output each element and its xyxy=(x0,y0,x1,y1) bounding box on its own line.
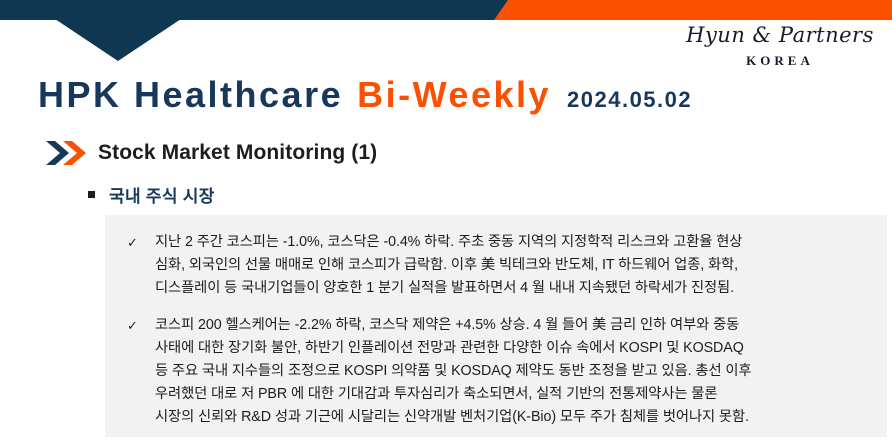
list-item-line: 디스플레이 등 국내기업들이 양호한 1 분기 실적을 발표하면서 4 월 내내… xyxy=(155,277,875,300)
navy-triangle-accent xyxy=(55,19,181,61)
list-item-line: 코스피 200 헬스케어는 -2.2% 하락, 코스닥 제약은 +4.5% 상승… xyxy=(155,314,875,337)
list-item-line: 지난 2 주간 코스피는 -1.0%, 코스닥은 -0.4% 하락. 주초 중동… xyxy=(155,231,875,254)
list-item-line: 시장의 신뢰와 R&D 성과 기근에 시달리는 신약개발 벤처기업(K-Bio)… xyxy=(155,406,875,429)
list-item-line: 사태에 대한 장기화 불안, 하반기 인플레이션 전망과 관련한 다양한 이슈 … xyxy=(155,337,875,360)
list-item: ✓ 코스피 200 헬스케어는 -2.2% 하락, 코스닥 제약은 +4.5% … xyxy=(123,314,875,429)
section-heading-label: Stock Market Monitoring (1) xyxy=(98,141,377,165)
page-title-accent: Bi-Weekly xyxy=(357,74,551,116)
list-item-text: 코스피 200 헬스케어는 -2.2% 하락, 코스닥 제약은 +4.5% 상승… xyxy=(155,314,875,429)
logo-script-text: Hyun & Partners xyxy=(680,24,880,47)
page-title: HPK Healthcare Bi-Weekly 2024.05.02 xyxy=(38,74,692,116)
top-decorative-bar xyxy=(0,0,892,20)
page-title-date: 2024.05.02 xyxy=(567,87,692,113)
content-panel: ✓ 지난 2 주간 코스피는 -1.0%, 코스닥은 -0.4% 하락. 주초 … xyxy=(105,215,887,437)
list-item-line: 등 주요 국내 지수들의 조정으로 KOSPI 의약품 및 KOSDAQ 제약도… xyxy=(155,360,875,383)
check-bullet-icon: ✓ xyxy=(123,314,155,337)
list-item-text: 지난 2 주간 코스피는 -1.0%, 코스닥은 -0.4% 하락. 주초 중동… xyxy=(155,231,875,300)
section-heading: Stock Market Monitoring (1) xyxy=(44,139,377,167)
topbar-orange-segment xyxy=(494,0,892,20)
square-bullet-icon xyxy=(88,191,95,198)
company-logo: Hyun & Partners KOREA xyxy=(680,24,880,69)
sub-heading-label: 국내 주식 시장 xyxy=(109,182,215,207)
check-bullet-icon: ✓ xyxy=(123,231,155,254)
page-title-main: HPK Healthcare xyxy=(38,74,343,116)
logo-region-text: KOREA xyxy=(680,53,880,69)
sub-heading: 국내 주식 시장 xyxy=(88,182,215,207)
list-item-line: 우려했던 대로 저 PBR 에 대한 기대감과 투자심리가 축소되면서, 실적 … xyxy=(155,383,875,406)
topbar-navy-segment xyxy=(0,0,510,20)
list-item-line: 심화, 외국인의 선물 매매로 인해 코스피가 급락함. 이후 美 빅테크와 반… xyxy=(155,254,875,277)
double-chevron-right-icon xyxy=(44,139,88,167)
list-item: ✓ 지난 2 주간 코스피는 -1.0%, 코스닥은 -0.4% 하락. 주초 … xyxy=(123,231,875,300)
